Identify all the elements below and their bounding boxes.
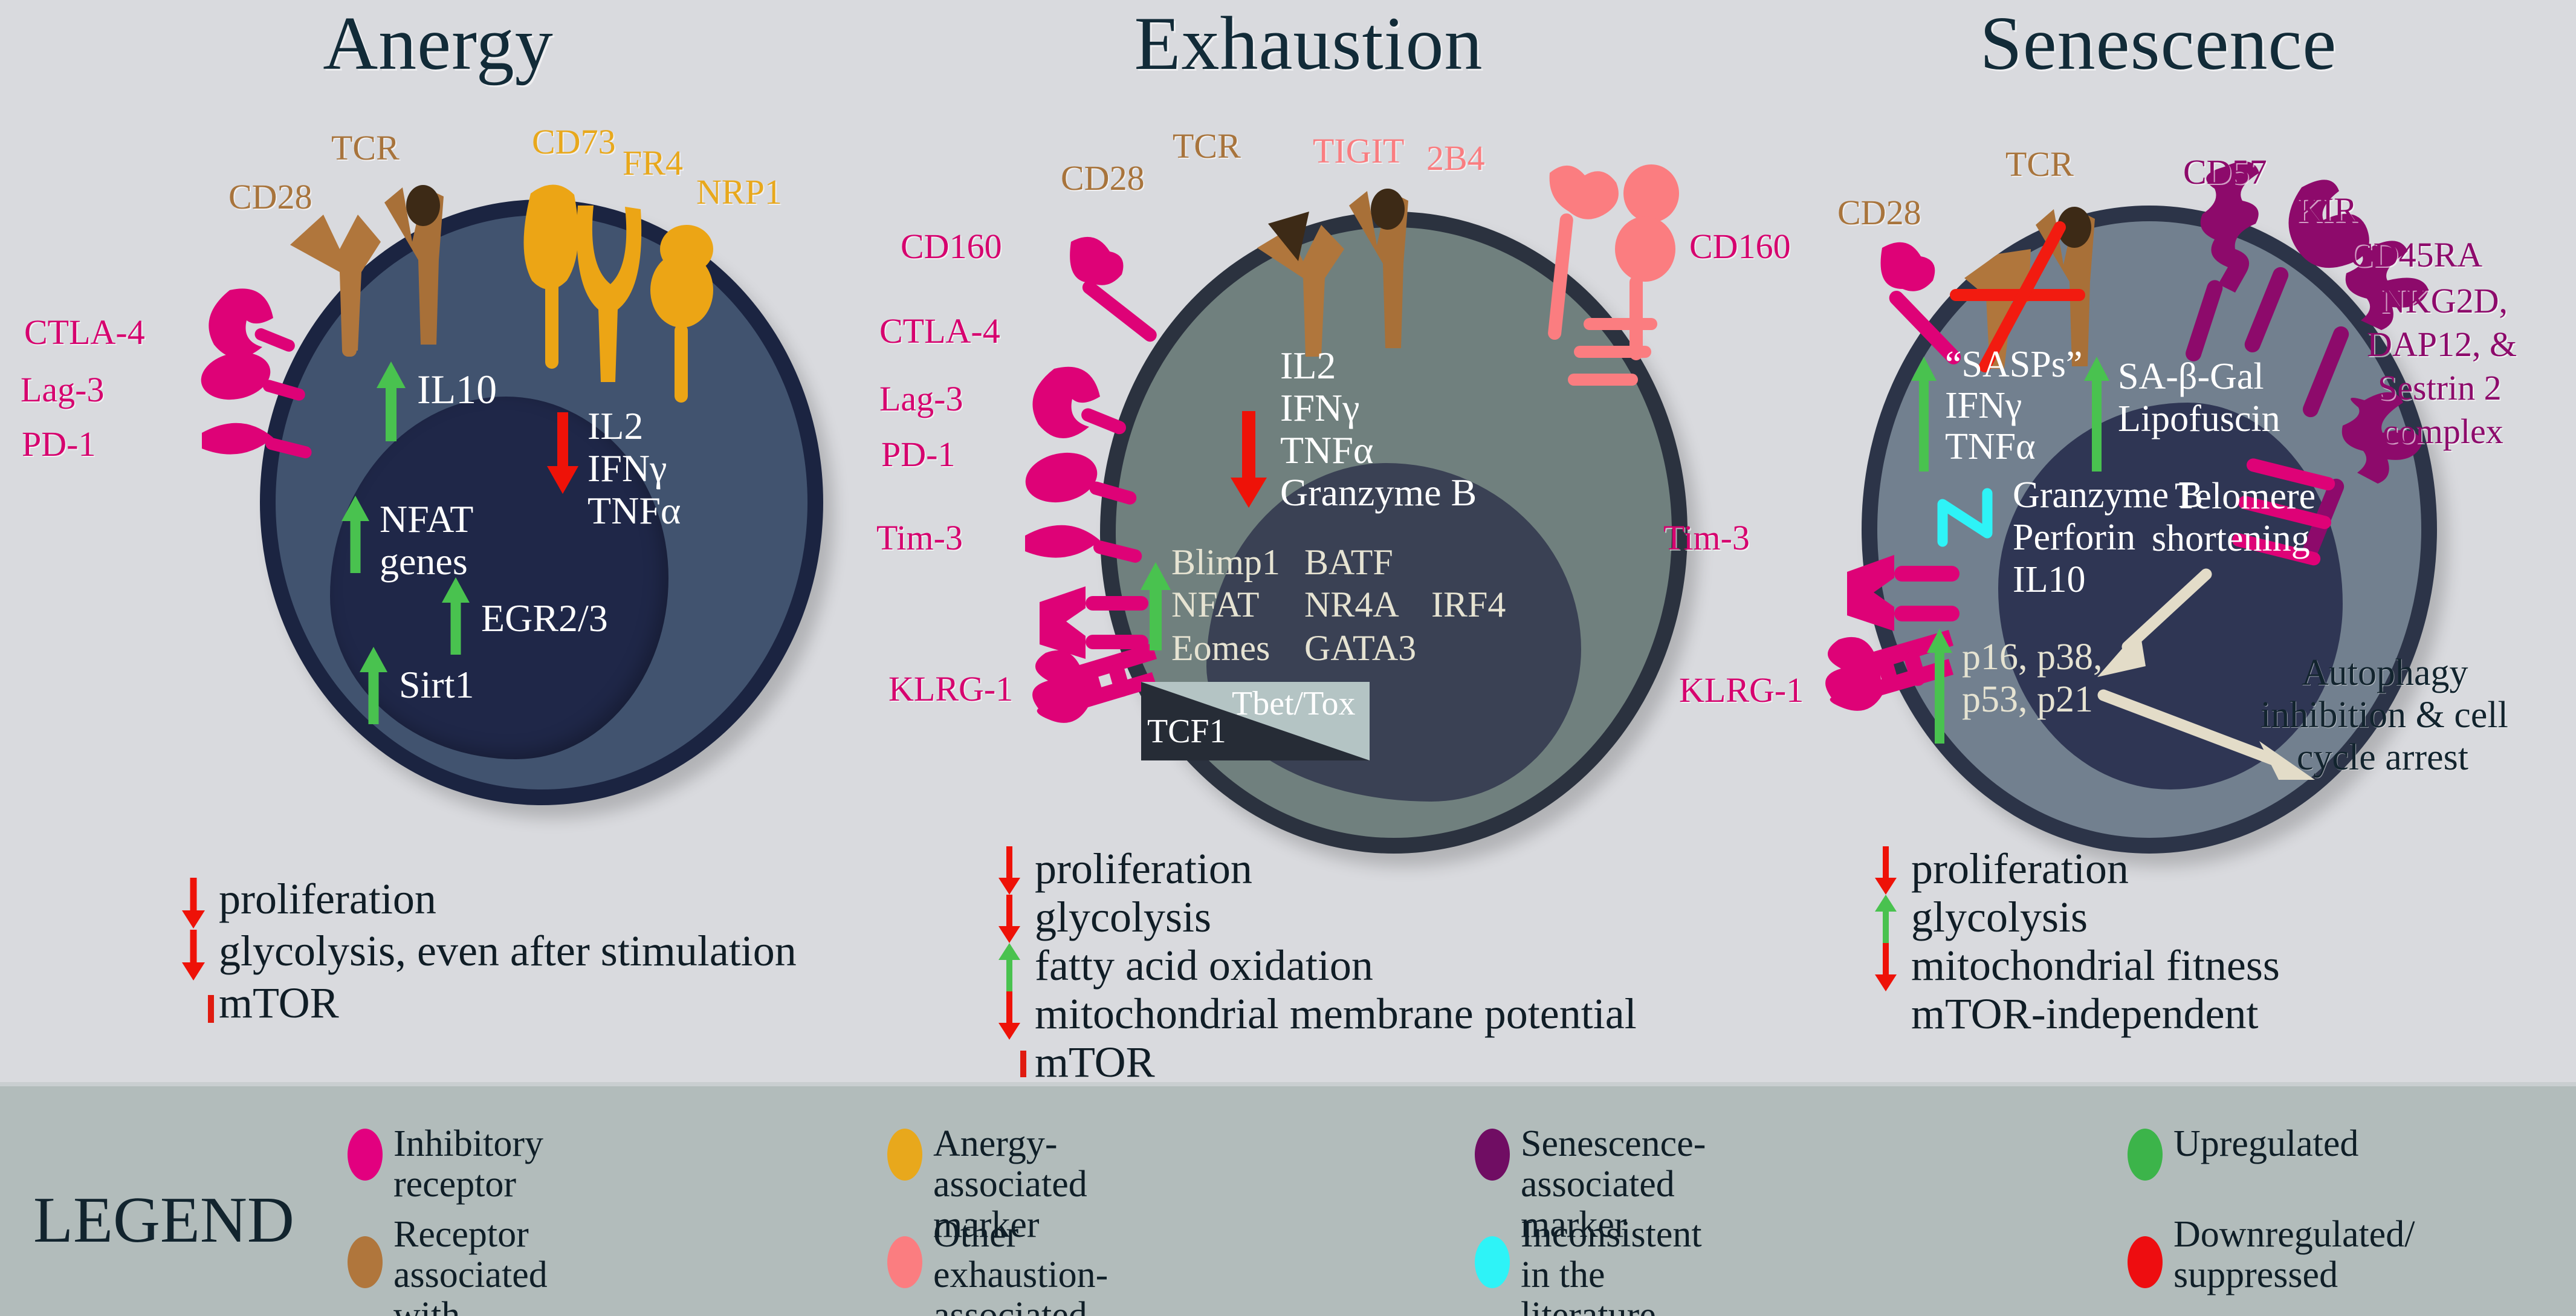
text-genes-anergy: genes (380, 542, 468, 581)
text-tcf1-exhaustion: TCF1 (1147, 715, 1226, 749)
tf-split-box-exhaustion: TCF1 Tbet/Tox (1141, 682, 1370, 760)
text-lipofuscin-senescence: Lipofuscin (2118, 400, 2280, 438)
outcome-text: mTOR-independent (1911, 989, 2259, 1039)
label-kir-senescence: KIR (2297, 192, 2357, 228)
down-arrow-icon (181, 930, 205, 981)
text-nfat-exhaustion: NFAT (1171, 586, 1260, 623)
outcome-text: glycolysis (1911, 892, 2088, 942)
receptor-tcr-shape (2036, 207, 2095, 366)
receptor-pd1-shape (1025, 525, 1144, 564)
text-sirt1-anergy: Sirt1 (399, 665, 474, 704)
legend-label: Inconsistent in the literature (1521, 1214, 1702, 1316)
up-arrow-nfat-anergy (342, 496, 369, 573)
receptor-tim3-shape (1847, 555, 1960, 631)
label-pd1-exhaustion: PD-1 (881, 436, 955, 472)
label-lag3-anergy: Lag-3 (21, 372, 105, 407)
receptor-lag3-shape (1021, 446, 1138, 508)
outcome-text: proliferation (1911, 844, 2129, 894)
receptor-tigit-shape (1547, 166, 1619, 340)
down-arrow-cytokines-exhaustion (1232, 411, 1266, 508)
legend-swatch (887, 1129, 922, 1181)
outcome-text: fatty acid oxidation (1035, 941, 1373, 991)
label-ctla4-exhaustion: CTLA-4 (879, 313, 1000, 349)
down-arrow-icon (997, 991, 1021, 1040)
label-cd160-senescence: CD160 (1689, 229, 1791, 264)
text-ifng-anergy: IFNγ (587, 449, 667, 488)
label-2b4-exhaustion: 2B4 (1426, 140, 1485, 176)
down-arrow-icon (997, 846, 1021, 895)
text-il10-anergy: IL10 (417, 369, 497, 410)
label-sestrin2-senescence: Sestrin 2 (2378, 370, 2502, 406)
text-granzymeb-exhaustion: Granzyme B (1280, 473, 1477, 512)
text-tnfa-anergy: TNFα (587, 491, 681, 530)
receptor-lag3-shape (196, 346, 306, 406)
text-il2-exhaustion: IL2 (1280, 346, 1336, 385)
text-ifng-exhaustion: IFNγ (1280, 388, 1359, 427)
label-ctla4-anergy: CTLA-4 (24, 314, 145, 350)
legend-label: Inhibitory receptor (393, 1124, 543, 1205)
down-arrow-icon (1874, 943, 1898, 991)
panels-container: Anergy (0, 0, 2576, 1082)
legend-label: Upregulated (2173, 1124, 2358, 1164)
legend: LEGEND Inhibitory receptor Receptor asso… (0, 1082, 2576, 1316)
label-dap12-senescence: DAP12, & (2367, 326, 2517, 362)
down-arrow-icon (1874, 846, 1898, 895)
text-shortening-senescence: shortening (2152, 520, 2310, 558)
receptor-ctla4-shape (1032, 367, 1128, 438)
down-arrow-cytokines-anergy (549, 412, 577, 494)
label-tim3-exhaustion: Tim-3 (876, 520, 963, 556)
label-cd45ra-senescence: CD45RA (2350, 237, 2482, 273)
inhibit-bar-icon (154, 995, 214, 1023)
label-lag3-exhaustion: Lag-3 (879, 381, 963, 417)
panel-title-anergy: Anergy (0, 6, 876, 82)
label-cd160-exhaustion: CD160 (901, 229, 1002, 264)
label-cd28-anergy: CD28 (228, 179, 312, 215)
legend-title: LEGEND (33, 1183, 294, 1258)
legend-swatch (2128, 1129, 2163, 1181)
receptor-cd73-shape (523, 184, 578, 369)
legend-label: Other exhaustion-associated inhibitory r… (933, 1214, 1108, 1316)
label-nrp1-anergy: NRP1 (696, 174, 782, 210)
text-il2-anergy: IL2 (587, 406, 643, 446)
up-arrow-p16-senescence (1927, 629, 1952, 744)
receptor-cd57-shape (2184, 161, 2259, 363)
label-tim3-senescence: Tim-3 (1663, 520, 1750, 556)
receptor-pd1-shape (202, 423, 313, 459)
label-klrg1-senescence: KLRG-1 (1679, 672, 1804, 708)
up-arrow-icon (1874, 895, 1898, 943)
outcome-text: mTOR (1035, 1037, 1155, 1087)
outcome-text: mTOR (219, 978, 339, 1028)
panel-title-exhaustion: Exhaustion (876, 6, 1741, 82)
label-cd28-senescence: CD28 (1837, 195, 1921, 230)
panel-title-senescence: Senescence (1741, 6, 2576, 82)
text-blimp1-exhaustion: Blimp1 (1171, 544, 1280, 581)
text-tbettox-exhaustion: Tbet/Tox (1232, 687, 1355, 721)
text-telomere-senescence: Telomere (2175, 478, 2315, 516)
legend-swatch (2128, 1236, 2163, 1288)
legend-swatch (887, 1236, 922, 1288)
text-tnfa-exhaustion: TNFα (1280, 430, 1373, 470)
text-nr4a-exhaustion: NR4A (1304, 586, 1399, 623)
label-cd28-exhaustion: CD28 (1061, 160, 1145, 196)
outcome-text: proliferation (1035, 844, 1252, 894)
text-autophagy-line2-senescence: inhibition & cell (2260, 696, 2508, 734)
receptor-ctla4-shape (209, 288, 297, 358)
receptor-tcr-shape (1349, 189, 1408, 348)
panel-anergy: Anergy (0, 0, 876, 1082)
outcome-text: mitochondrial fitness (1911, 941, 2280, 991)
legend-label: Downregulated/ suppressed (2173, 1214, 2415, 1295)
up-arrow-egr-anergy (442, 577, 469, 655)
label-tcr-exhaustion: TCR (1173, 128, 1241, 164)
receptor-tcr-shape (384, 185, 444, 345)
receptor-cd160-shape (1070, 237, 1159, 345)
inhibit-bar-icon (968, 1051, 1026, 1077)
label-nkg2d-senescence: NKG2D, (2380, 283, 2508, 319)
text-ifng-senescence: IFNγ (1945, 387, 2022, 425)
label-complex-senescence: complex (2383, 413, 2503, 449)
outcome-text: glycolysis (1035, 892, 1211, 942)
legend-swatch (1475, 1129, 1510, 1181)
text-tnfa-senescence: TNFα (1945, 428, 2036, 466)
receptors-anergy-inhibitory (139, 284, 393, 526)
outcome-text: mitochondrial membrane potential (1035, 989, 1637, 1039)
text-eomes-exhaustion: Eomes (1171, 630, 1270, 667)
up-arrow-tf-exhaustion (1141, 562, 1170, 650)
inconsistent-squiggle-icon (1932, 484, 2010, 550)
receptor-tim3-shape (1040, 586, 1148, 659)
up-arrow-il10-anergy (378, 361, 404, 441)
label-tigit-exhaustion: TIGIT (1313, 133, 1404, 169)
receptor-fr4-shape (577, 206, 641, 382)
outcome-text: glycolysis, even after stimulation (219, 926, 797, 976)
text-egr23-anergy: EGR2/3 (481, 598, 608, 638)
text-p16p38-senescence: p16, p38, (1962, 638, 2103, 676)
legend-swatch (348, 1129, 383, 1181)
legend-label: Receptor associated with T cell stimulat… (393, 1214, 562, 1316)
label-klrg1-exhaustion: KLRG-1 (888, 671, 1013, 707)
up-arrow-sabgal-senescence (2084, 357, 2109, 472)
down-arrow-icon (181, 878, 205, 929)
text-sabgal-senescence: SA-β-Gal (2118, 358, 2264, 396)
text-autophagy-line3-senescence: cycle arrest (2297, 739, 2468, 777)
up-arrow-icon (997, 943, 1021, 991)
outcome-text: proliferation (219, 874, 436, 924)
text-gata3-exhaustion: GATA3 (1304, 630, 1416, 667)
text-batf-exhaustion: BATF (1304, 544, 1393, 581)
text-nfat-anergy: NFAT (380, 499, 473, 539)
receptor-klrg1-shape (1032, 643, 1157, 723)
label-tcr-senescence: TCR (2005, 146, 2074, 182)
legend-swatch (1475, 1236, 1510, 1288)
figure-root: Anergy (0, 0, 2576, 1316)
up-arrow-sasps-senescence (1911, 357, 1937, 472)
label-pd1-anergy: PD-1 (22, 426, 95, 462)
up-arrow-sirt1-anergy (360, 647, 387, 724)
text-autophagy-senescence: Autophagy (2302, 654, 2468, 692)
receptor-nrp1-shape (650, 225, 713, 403)
text-p53p21-senescence: p53, p21 (1962, 681, 2093, 719)
down-arrow-icon (997, 895, 1021, 943)
text-perforin-senescence: Perforin (2013, 519, 2135, 557)
label-cd73-anergy: CD73 (532, 124, 616, 160)
text-sasps-senescence: “SASPs” (1945, 346, 2082, 384)
legend-swatch (348, 1236, 383, 1288)
label-fr4-anergy: FR4 (623, 145, 683, 181)
text-irf4-exhaustion: IRF4 (1431, 586, 1506, 623)
label-cd57-senescence: CD57 (2183, 154, 2267, 190)
label-tcr-anergy: TCR (331, 130, 400, 166)
